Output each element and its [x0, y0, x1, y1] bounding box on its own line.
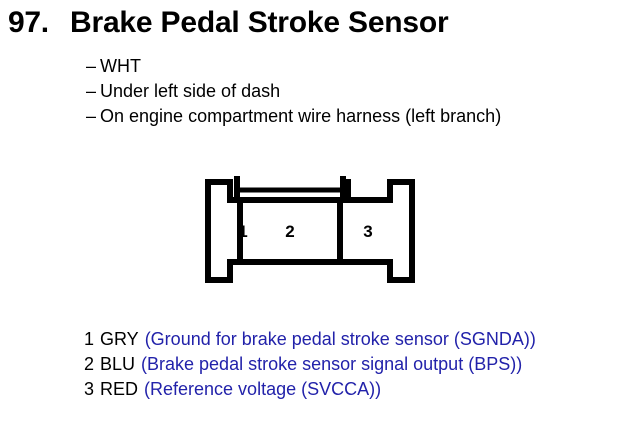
note-item-label: WHT	[100, 54, 141, 79]
legend-wire-color: BLU	[100, 352, 135, 377]
dash-bullet-icon: –	[86, 54, 100, 79]
legend-pin-number: 3	[84, 377, 100, 402]
legend-row: 2 BLU (Brake pedal stroke sensor signal …	[84, 352, 622, 377]
legend-row: 1 GRY (Ground for brake pedal stroke sen…	[84, 327, 622, 352]
notes-list: – WHT – Under left side of dash – On eng…	[86, 54, 616, 129]
legend-wire-color: GRY	[100, 327, 139, 352]
connector-pin-number-3: 3	[363, 222, 372, 241]
dash-bullet-icon: –	[86, 104, 100, 129]
connector-diagram: 1 2 3	[205, 176, 415, 286]
note-item: – WHT	[86, 54, 616, 79]
page-title: Brake Pedal Stroke Sensor	[70, 6, 449, 40]
legend-description: (Reference voltage (SVCCA))	[144, 377, 381, 402]
legend-pin-number: 1	[84, 327, 100, 352]
legend-wire-color: RED	[100, 377, 138, 402]
legend-description: (Ground for brake pedal stroke sensor (S…	[145, 327, 536, 352]
legend-pin-number: 2	[84, 352, 100, 377]
note-item-label: On engine compartment wire harness (left…	[100, 104, 501, 129]
note-item: – On engine compartment wire harness (le…	[86, 104, 616, 129]
page-header: 97. Brake Pedal Stroke Sensor	[0, 6, 622, 46]
note-item-label: Under left side of dash	[100, 79, 280, 104]
connector-pin-number-2: 2	[285, 222, 294, 241]
legend-row: 3 RED (Reference voltage (SVCCA))	[84, 377, 622, 402]
legend-description: (Brake pedal stroke sensor signal output…	[141, 352, 522, 377]
connector-pin-number-1: 1	[238, 222, 247, 241]
connector-outline-svg: 1 2 3	[205, 176, 415, 286]
note-item: – Under left side of dash	[86, 79, 616, 104]
pin-legend: 1 GRY (Ground for brake pedal stroke sen…	[84, 327, 622, 402]
dash-bullet-icon: –	[86, 79, 100, 104]
section-number: 97.	[8, 6, 70, 40]
